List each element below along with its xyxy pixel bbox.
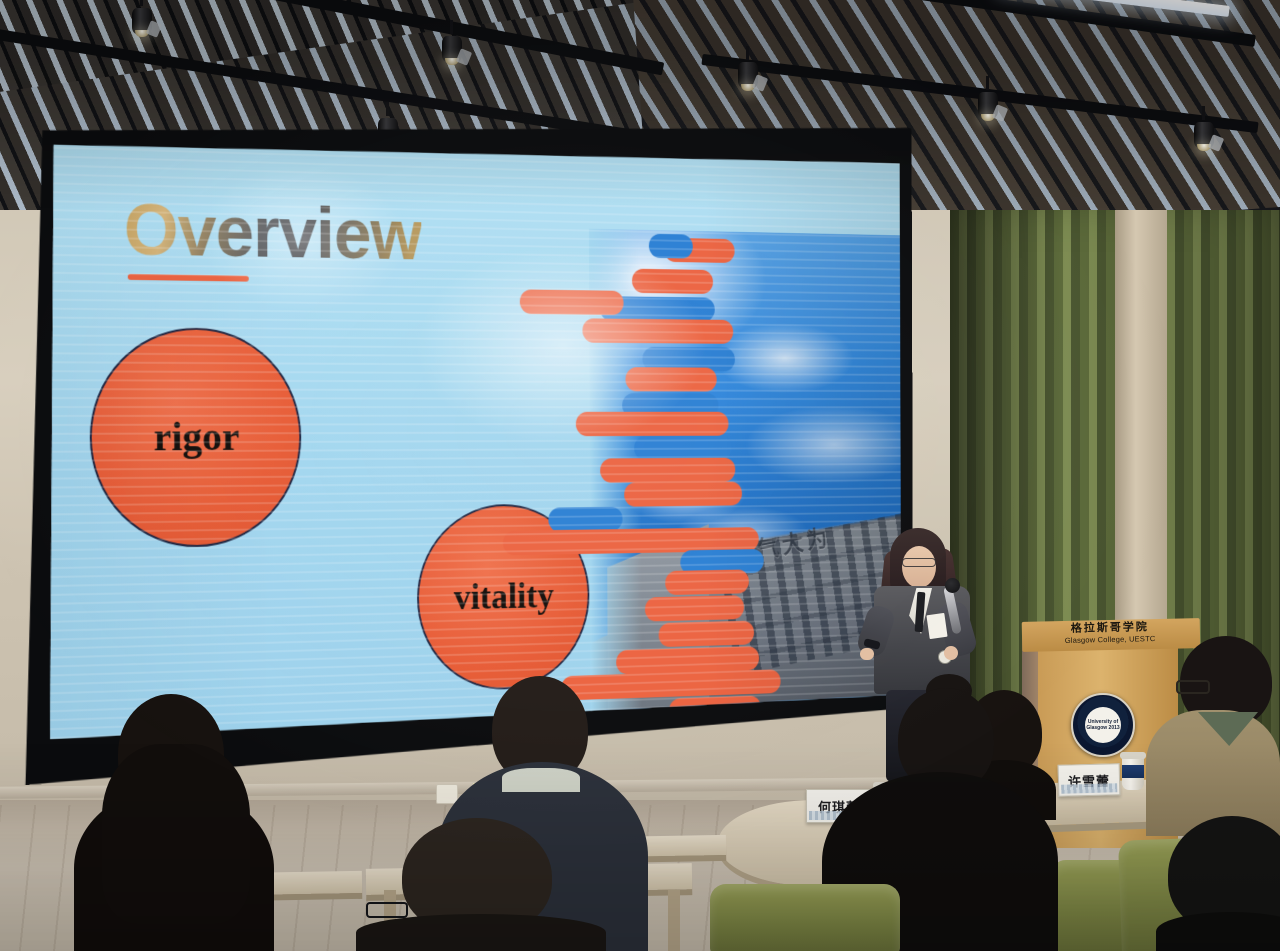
- slide-mask-bar: [520, 289, 624, 315]
- presentation-slide: Overview rigor vitality 大气大为: [48, 137, 901, 739]
- spotlight-icon: [976, 86, 1000, 120]
- slide-mask-bar: [659, 621, 754, 648]
- slide-mask-bar: [634, 436, 732, 460]
- slide-mask-bar: [649, 234, 693, 259]
- slide-bubble-rigor: rigor: [89, 327, 301, 549]
- desk-leg: [668, 890, 680, 951]
- university-seal: University of Glasgow 2013: [1071, 693, 1135, 757]
- nameplate: 许雪蕾: [1058, 763, 1121, 797]
- spotlight-icon: [130, 2, 154, 36]
- glasses-icon: [902, 558, 936, 567]
- spotlight-icon: [440, 30, 464, 64]
- title-underline: [128, 274, 249, 282]
- presentation-room-photo: Overview rigor vitality 大气大为: [0, 0, 1280, 951]
- audience-member: [1146, 636, 1280, 836]
- bubble-label: rigor: [154, 414, 240, 461]
- presenter-left-hand: [860, 648, 874, 660]
- nameplate-skyline-art: [1061, 783, 1117, 793]
- slide-mask-bar: [632, 269, 713, 294]
- audience-member: [74, 694, 274, 951]
- slide-mask-bar: [582, 318, 733, 344]
- slide-mask-bar: [665, 569, 749, 595]
- spotlight-icon: [736, 56, 760, 90]
- display-panel: Overview rigor vitality 大气大为: [48, 137, 901, 739]
- spotlight-icon: [1192, 116, 1216, 150]
- audience-member: [356, 818, 606, 951]
- presenter-face: [902, 546, 936, 588]
- presenter-note-card: [926, 613, 947, 639]
- slide-mask-bar: [548, 507, 622, 532]
- slide-mask-bar: [624, 481, 742, 506]
- seal-text: University of Glasgow 2013: [1085, 707, 1121, 743]
- slide-barcode-mask: [495, 227, 736, 737]
- slide-mask-bar: [600, 458, 735, 483]
- slide-mask-bar: [645, 595, 744, 621]
- audience-member: [1156, 816, 1280, 951]
- slide-mask-bar: [576, 412, 729, 436]
- microphone-head-icon: [945, 578, 960, 593]
- chair: [710, 884, 900, 951]
- slide-mask-bar: [625, 367, 716, 391]
- presenter-right-hand: [944, 646, 958, 660]
- coffee-cup: [1122, 756, 1144, 790]
- slide-title: Overview: [124, 187, 422, 275]
